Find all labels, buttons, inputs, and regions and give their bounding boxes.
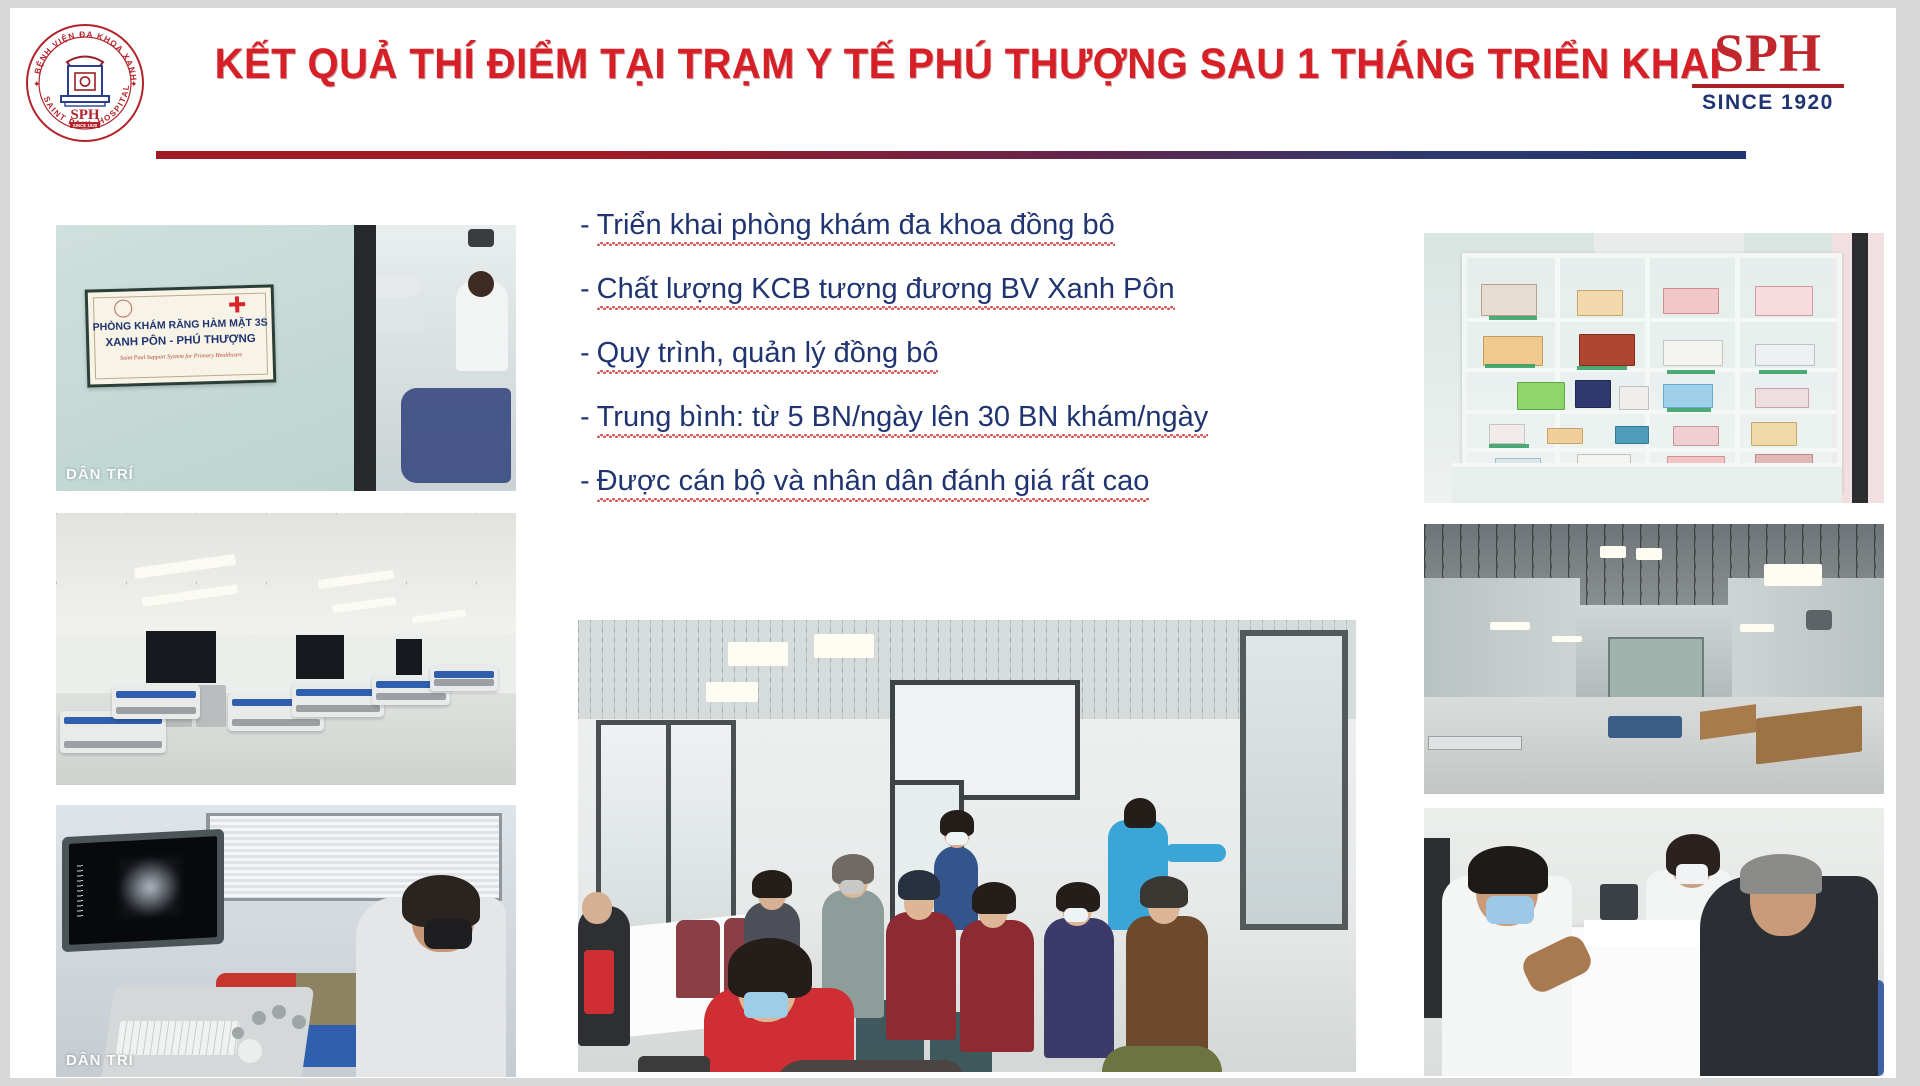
ward-window	[296, 635, 344, 679]
patient-hair	[728, 938, 812, 998]
shelf-label	[1489, 444, 1529, 448]
hospital-bed	[430, 665, 498, 691]
hospital-bed	[112, 685, 200, 719]
photo-ultrasound-examination: DÂN TRÍ	[56, 805, 516, 1077]
cabinet-shelf	[1467, 448, 1837, 452]
ward-window	[146, 631, 216, 683]
ceiling-light	[814, 634, 874, 658]
dark-column	[1852, 233, 1868, 503]
patient-hair	[752, 870, 792, 898]
header-divider-rule	[156, 151, 1746, 159]
ceiling-light	[1764, 564, 1822, 586]
shelf-label	[1667, 408, 1711, 412]
dental-chair	[401, 388, 511, 483]
exam-room-door	[1240, 630, 1348, 930]
medicine-box	[1751, 422, 1797, 446]
list-item: -Quy trình, quản lý đồng bô	[580, 339, 1340, 370]
ceiling-light	[728, 642, 788, 666]
wall-fan	[468, 229, 494, 247]
bullet-dash: -	[580, 209, 590, 241]
ceiling-light	[1552, 636, 1582, 642]
photo-hospital-corridor	[1424, 524, 1884, 794]
doctor-face-mask	[424, 919, 472, 949]
medicine-box	[1517, 382, 1565, 410]
medicine-box	[1755, 286, 1813, 316]
shelf-label	[1489, 316, 1537, 320]
photo-watermark: DÂN TRÍ	[66, 466, 134, 483]
medicine-cabinet	[1462, 253, 1842, 493]
ceiling-light	[1600, 546, 1626, 558]
shelf-label	[1759, 370, 1807, 374]
ultrasound-image	[119, 856, 181, 918]
bullet-text: Chất lượng KCB tương đương BV Xanh Pôn	[597, 275, 1175, 306]
medicine-box	[1619, 386, 1649, 410]
list-item: -Trung bình: từ 5 BN/ngày lên 30 BN khám…	[580, 403, 1340, 434]
svg-text:SPH: SPH	[70, 107, 100, 123]
chair	[676, 920, 720, 998]
list-item: -Chất lượng KCB tương đương BV Xanh Pôn	[580, 275, 1340, 306]
face-mask-icon	[946, 832, 968, 845]
svg-text:✦: ✦	[130, 79, 138, 89]
shelf-label	[1485, 364, 1535, 368]
scarf	[584, 950, 614, 1014]
cabinet-mullion	[1735, 258, 1740, 488]
cabinet-base-cupboard	[1452, 463, 1842, 503]
console-knob	[252, 1011, 266, 1025]
console-keyboard	[116, 1021, 241, 1055]
bullet-dash: -	[580, 401, 590, 433]
medicine-box	[1481, 284, 1537, 316]
medicine-box	[1489, 424, 1525, 444]
medicine-box	[1577, 290, 1623, 316]
medicine-box	[1575, 380, 1611, 408]
ceiling-light	[1740, 624, 1774, 632]
patient-figure	[1126, 916, 1208, 1066]
bedside-locker	[196, 685, 226, 727]
console-knob	[292, 1015, 306, 1029]
jacket-on-chair	[774, 1060, 964, 1072]
doctor-hair	[1468, 846, 1548, 894]
slide-title: KẾT QUẢ THÍ ĐIỂM TẠI TRẠM Y TẾ PHÚ THƯỢN…	[215, 42, 1666, 87]
photo-watermark: DÂN TRÍ	[66, 1052, 134, 1069]
svg-text:✦: ✦	[33, 79, 41, 89]
doctor-face-mask	[1486, 896, 1534, 924]
medicine-box	[1615, 426, 1649, 444]
photo-dental-clinic-sign: PHÒNG KHÁM RĂNG HÀM MẶT 3S XANH PÔN - PH…	[56, 225, 516, 491]
face-mask-icon	[744, 992, 788, 1018]
photo-doctor-consultation	[1424, 808, 1884, 1076]
ceiling-light	[1490, 622, 1530, 630]
patient-hair	[1140, 876, 1188, 908]
photo-dental-room	[376, 225, 516, 491]
medicine-box	[1755, 388, 1809, 408]
svg-text:SINCE 1920: SINCE 1920	[73, 123, 98, 128]
hospital-bed	[292, 683, 384, 717]
ward-window	[396, 639, 422, 677]
photo-waiting-room-patients	[578, 620, 1356, 1072]
photo-hospital-ward-beds	[56, 513, 516, 785]
door-jamb	[354, 225, 376, 491]
air-conditioner	[1594, 233, 1744, 255]
ceiling-light	[1636, 548, 1662, 560]
patient-figure	[886, 912, 956, 1040]
ultrasound-monitor	[62, 829, 224, 952]
medicine-box	[1663, 340, 1723, 366]
dentist-head	[468, 271, 494, 297]
staff-hair	[1124, 798, 1156, 828]
bullet-list: -Triển khai phòng khám đa khoa đồng bô -…	[580, 211, 1340, 531]
cabinet-mullion	[1645, 258, 1650, 488]
bullet-dash: -	[580, 465, 590, 497]
face-mask-icon	[840, 880, 864, 894]
ultrasound-scale	[77, 865, 83, 918]
red-cross-icon	[229, 296, 245, 312]
face-mask-icon	[1064, 908, 1088, 922]
medicine-box	[1547, 428, 1583, 444]
sph-logo-text: SPH	[1678, 26, 1858, 80]
staff-arm	[1164, 844, 1226, 862]
bullet-text: Triển khai phòng khám đa khoa đồng bô	[597, 211, 1115, 242]
patient-hair	[1740, 854, 1822, 894]
cabinet-shelf	[1467, 410, 1837, 414]
medicine-box	[1755, 344, 1815, 366]
desk-monitor	[1600, 884, 1638, 920]
medicine-box	[1579, 334, 1635, 366]
medicine-box	[1663, 288, 1719, 314]
patient-figure	[1044, 918, 1114, 1058]
wall-fan	[1806, 610, 1832, 630]
bullet-text: Trung bình: từ 5 BN/ngày lên 30 BN khám/…	[597, 403, 1209, 434]
photo-pharmacy-cabinet	[1424, 233, 1884, 503]
slide-canvas: BỆNH VIỆN ĐA KHOA XANH PÔN SAINT PAUL HO…	[10, 8, 1896, 1078]
blood-pressure-cuff	[638, 1056, 710, 1072]
sph-wordmark-logo: SPH SINCE 1920	[1678, 26, 1858, 115]
bullet-text: Quy trình, quản lý đồng bô	[597, 339, 939, 370]
ultrasound-screen	[69, 836, 217, 945]
ceiling-light	[706, 682, 758, 702]
sph-logo-since-text: SINCE 1920	[1678, 91, 1858, 115]
clinic-signboard: PHÒNG KHÁM RĂNG HÀM MẶT 3S XANH PÔN - PH…	[85, 284, 277, 387]
shelf-label	[1577, 366, 1627, 370]
medicine-box	[1483, 336, 1543, 366]
sph-logo-divider	[1692, 84, 1844, 88]
photo-ceiling-grid	[56, 513, 516, 638]
metal-table	[1428, 736, 1522, 750]
patient-head	[582, 892, 612, 924]
medicine-box	[1663, 384, 1713, 408]
cabinet-mullion	[1555, 258, 1560, 488]
patient-hair	[898, 870, 940, 900]
bullet-dash: -	[580, 337, 590, 369]
bullet-dash: -	[580, 273, 590, 305]
patient-hair	[972, 882, 1016, 914]
bullet-text: Được cán bộ và nhân dân đánh giá rất cao	[597, 467, 1150, 498]
waiting-bench	[1608, 716, 1682, 738]
shelf-label	[1667, 370, 1715, 374]
list-item: -Được cán bộ và nhân dân đánh giá rất ca…	[580, 467, 1340, 498]
console-knob	[232, 1027, 244, 1039]
console-knob	[272, 1005, 286, 1019]
folded-coat	[1102, 1046, 1222, 1072]
patient-figure	[960, 920, 1034, 1052]
hospital-seal-logo: BỆNH VIỆN ĐA KHOA XANH PÔN SAINT PAUL HO…	[20, 18, 150, 148]
nurse-face-mask	[1676, 864, 1708, 884]
console-trackball	[238, 1039, 262, 1063]
list-item: -Triển khai phòng khám đa khoa đồng bô	[580, 211, 1340, 242]
medicine-box	[1673, 426, 1719, 446]
